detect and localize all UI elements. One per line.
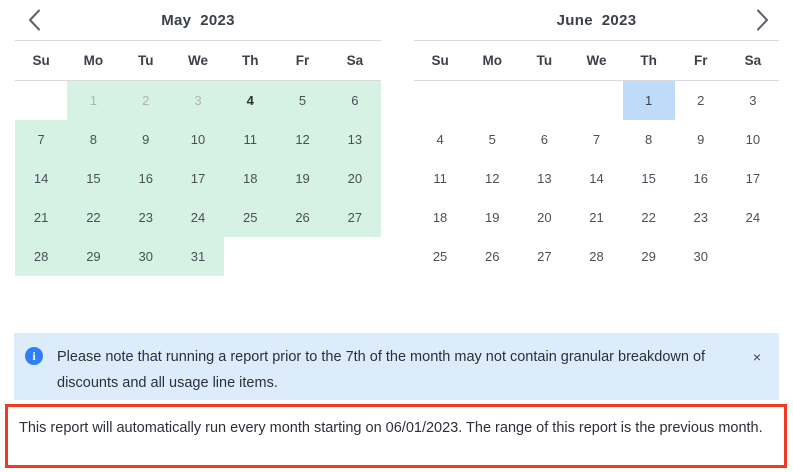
- calendar-left: May 2023 Su Mo Tu We Th Fr Sa 1234567891…: [0, 0, 396, 300]
- calendar-left-title: May 2023: [161, 12, 235, 29]
- dow-fr: Fr: [276, 53, 328, 68]
- calendar-week-row: 123456: [15, 81, 381, 120]
- calendar-right-grid: 1234567891011121314151617181920212223242…: [414, 81, 779, 276]
- calendar-day[interactable]: 22: [67, 198, 119, 237]
- schedule-notice-message: This report will automatically run every…: [19, 415, 772, 442]
- calendar-day[interactable]: 25: [224, 198, 276, 237]
- calendar-day[interactable]: 10: [172, 120, 224, 159]
- calendar-week-row: 21222324252627: [15, 198, 381, 237]
- calendar-day[interactable]: 3: [172, 81, 224, 120]
- calendar-day[interactable]: 27: [329, 198, 381, 237]
- calendar-day[interactable]: 8: [623, 120, 675, 159]
- calendar-day[interactable]: 15: [67, 159, 119, 198]
- calendar-day[interactable]: 14: [570, 159, 622, 198]
- calendar-day[interactable]: 17: [727, 159, 779, 198]
- calendar-day[interactable]: 20: [329, 159, 381, 198]
- calendar-day-empty: [224, 237, 276, 276]
- calendar-day[interactable]: 7: [570, 120, 622, 159]
- calendar-day[interactable]: 20: [518, 198, 570, 237]
- calendar-day[interactable]: 28: [15, 237, 67, 276]
- calendar-day[interactable]: 5: [466, 120, 518, 159]
- calendar-day[interactable]: 8: [67, 120, 119, 159]
- calendar-day-empty: [276, 237, 328, 276]
- calendar-week-row: 18192021222324: [414, 198, 779, 237]
- calendar-day[interactable]: 26: [466, 237, 518, 276]
- info-circle-icon: i: [25, 347, 43, 365]
- calendar-day[interactable]: 1: [623, 81, 675, 120]
- dow-sa: Sa: [727, 53, 779, 68]
- calendar-week-row: 28293031: [15, 237, 381, 276]
- dow-su: Su: [414, 53, 466, 68]
- calendar-day[interactable]: 6: [329, 81, 381, 120]
- calendar-day[interactable]: 24: [172, 198, 224, 237]
- calendar-day[interactable]: 13: [329, 120, 381, 159]
- calendar-week-row: 45678910: [414, 120, 779, 159]
- calendar-day[interactable]: 24: [727, 198, 779, 237]
- close-icon[interactable]: ×: [747, 347, 767, 367]
- calendar-day-empty: [466, 81, 518, 120]
- dow-sa: Sa: [329, 53, 381, 68]
- calendar-day[interactable]: 21: [15, 198, 67, 237]
- calendar-day[interactable]: 11: [224, 120, 276, 159]
- calendar-day[interactable]: 2: [675, 81, 727, 120]
- calendar-day[interactable]: 1: [67, 81, 119, 120]
- schedule-notice: This report will automatically run every…: [5, 404, 787, 468]
- calendar-day[interactable]: 13: [518, 159, 570, 198]
- calendar-day[interactable]: 19: [466, 198, 518, 237]
- calendar-right-title: June 2023: [557, 12, 637, 29]
- dow-su: Su: [15, 53, 67, 68]
- calendar-day[interactable]: 28: [570, 237, 622, 276]
- calendar-day[interactable]: 11: [414, 159, 466, 198]
- calendar-left-dow-row: Su Mo Tu We Th Fr Sa: [15, 41, 381, 80]
- calendar-day[interactable]: 2: [120, 81, 172, 120]
- chevron-right-icon[interactable]: [746, 4, 778, 36]
- calendar-day[interactable]: 17: [172, 159, 224, 198]
- calendar-day-empty: [329, 237, 381, 276]
- calendar-day[interactable]: 18: [414, 198, 466, 237]
- calendar-day[interactable]: 12: [276, 120, 328, 159]
- calendar-day[interactable]: 27: [518, 237, 570, 276]
- calendar-day[interactable]: 16: [675, 159, 727, 198]
- calendar-day-empty: [414, 81, 466, 120]
- calendar-day[interactable]: 23: [120, 198, 172, 237]
- calendar-day[interactable]: 15: [623, 159, 675, 198]
- calendar-day[interactable]: 10: [727, 120, 779, 159]
- calendar-day[interactable]: 26: [276, 198, 328, 237]
- calendar-day[interactable]: 19: [276, 159, 328, 198]
- info-banner: i Please note that running a report prio…: [14, 333, 779, 400]
- calendar-right: June 2023 Su Mo Tu We Th Fr Sa 123456789…: [396, 0, 792, 300]
- calendar-week-row: 252627282930: [414, 237, 779, 276]
- calendar-left-grid: 1234567891011121314151617181920212223242…: [15, 81, 381, 276]
- calendar-day[interactable]: 22: [623, 198, 675, 237]
- calendar-day[interactable]: 14: [15, 159, 67, 198]
- calendar-day[interactable]: 4: [414, 120, 466, 159]
- calendar-day[interactable]: 21: [570, 198, 622, 237]
- dow-th: Th: [224, 53, 276, 68]
- calendar-day[interactable]: 18: [224, 159, 276, 198]
- calendar-day[interactable]: 9: [120, 120, 172, 159]
- calendar-day[interactable]: 30: [120, 237, 172, 276]
- dow-tu: Tu: [120, 53, 172, 68]
- calendar-day-empty: [727, 237, 779, 276]
- calendar-day-empty: [570, 81, 622, 120]
- calendar-day[interactable]: 31: [172, 237, 224, 276]
- calendar-week-row: 123: [414, 81, 779, 120]
- calendar-week-row: 11121314151617: [414, 159, 779, 198]
- calendar-day[interactable]: 29: [623, 237, 675, 276]
- dow-mo: Mo: [67, 53, 119, 68]
- calendar-day-empty: [15, 81, 67, 120]
- calendar-right-header: June 2023: [414, 0, 779, 40]
- calendar-day[interactable]: 9: [675, 120, 727, 159]
- chevron-left-icon[interactable]: [18, 4, 50, 36]
- dow-th: Th: [623, 53, 675, 68]
- calendar-day[interactable]: 25: [414, 237, 466, 276]
- calendar-right-dow-row: Su Mo Tu We Th Fr Sa: [414, 41, 779, 80]
- dow-mo: Mo: [466, 53, 518, 68]
- dow-fr: Fr: [675, 53, 727, 68]
- dow-we: We: [570, 53, 622, 68]
- dow-we: We: [172, 53, 224, 68]
- dow-tu: Tu: [518, 53, 570, 68]
- calendar-day[interactable]: 7: [15, 120, 67, 159]
- calendar-day[interactable]: 3: [727, 81, 779, 120]
- calendar-week-row: 78910111213: [15, 120, 381, 159]
- calendar-day[interactable]: 12: [466, 159, 518, 198]
- calendar-week-row: 14151617181920: [15, 159, 381, 198]
- calendar-day[interactable]: 6: [518, 120, 570, 159]
- calendar-day[interactable]: 4: [224, 81, 276, 120]
- calendar-day-empty: [518, 81, 570, 120]
- calendar-day[interactable]: 23: [675, 198, 727, 237]
- calendar-day[interactable]: 16: [120, 159, 172, 198]
- info-banner-message: Please note that running a report prior …: [57, 344, 747, 396]
- calendar-left-header: May 2023: [15, 0, 381, 40]
- date-range-picker: May 2023 Su Mo Tu We Th Fr Sa 1234567891…: [0, 0, 793, 300]
- calendar-day[interactable]: 5: [276, 81, 328, 120]
- calendar-day[interactable]: 29: [67, 237, 119, 276]
- calendar-day[interactable]: 30: [675, 237, 727, 276]
